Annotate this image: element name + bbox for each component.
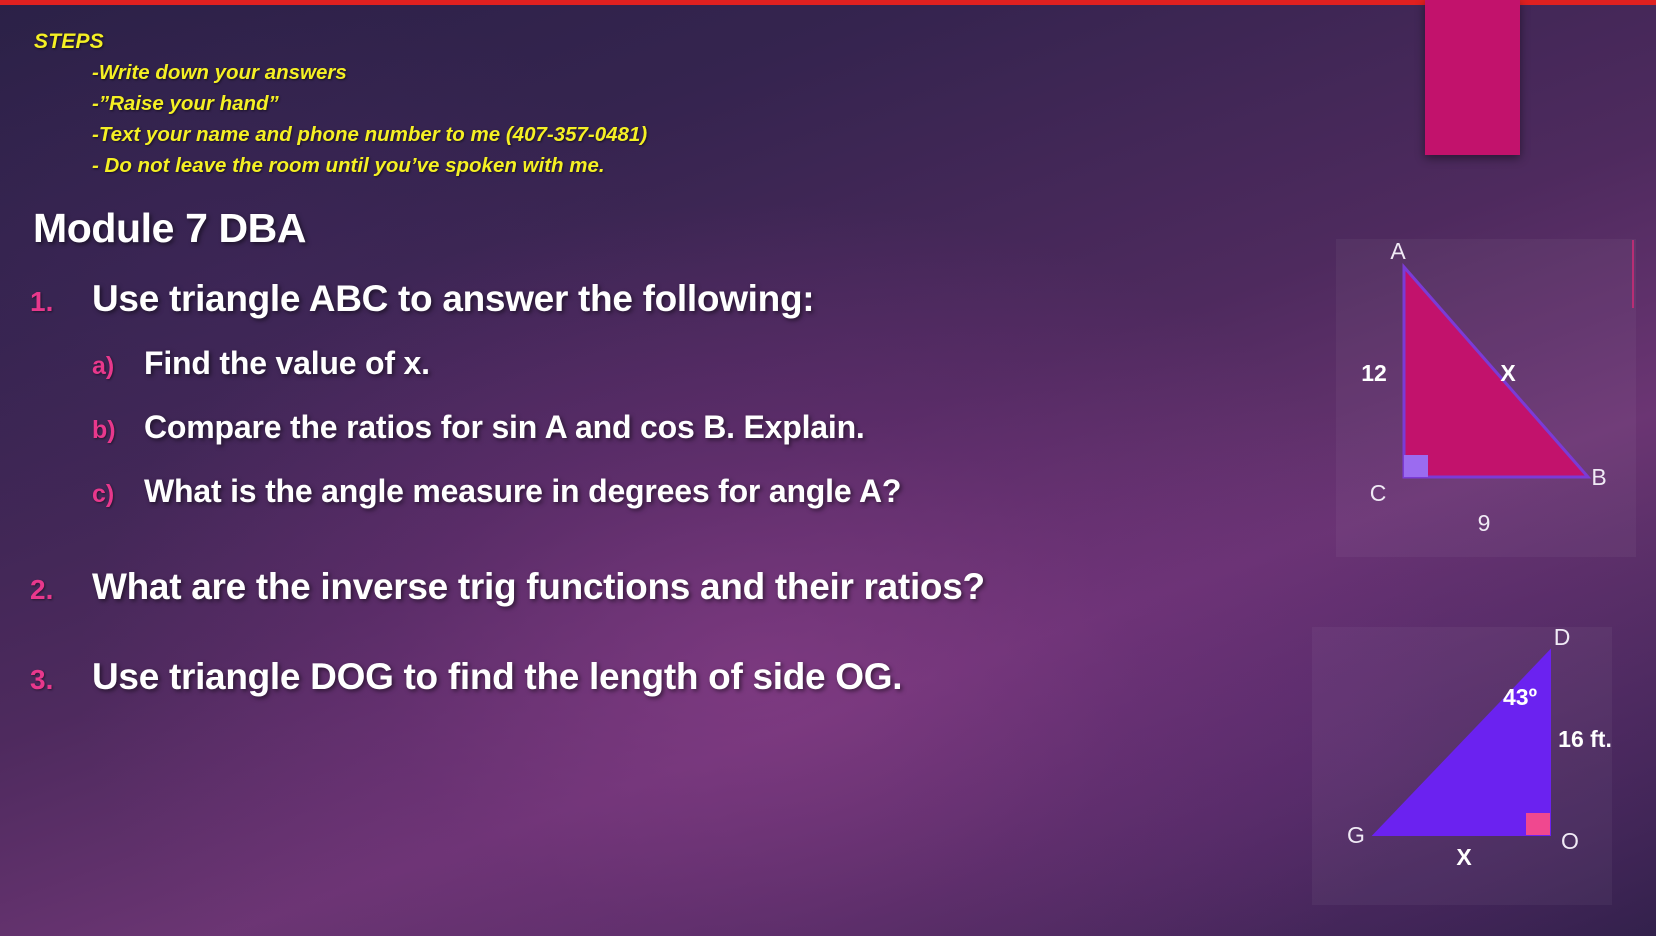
question-item-2: 2. What are the inverse trig functions a… [30,560,1250,614]
top-red-bar [0,0,1656,5]
sub-question-item-a: a) Find the value of x. [92,332,1250,394]
question-number: 3. [30,664,92,696]
right-angle-marker-icon [1526,813,1550,835]
question-item-1: 1. Use triangle ABC to answer the follow… [30,272,1250,326]
spacer [30,524,1250,560]
right-angle-marker-icon [1404,455,1428,477]
page-title: Module 7 DBA [33,205,306,252]
sub-question-text: Find the value of x. [144,332,430,394]
triangle-dog-shape [1374,651,1550,835]
slide-canvas: STEPS -Write down your answers -”Raise y… [0,0,1656,936]
question-text: What are the inverse trig functions and … [92,560,985,614]
side-label-12: 12 [1361,360,1387,386]
vertex-label-c: C [1370,480,1387,506]
side-label-x: X [1500,360,1516,386]
vertex-label-g: G [1347,822,1365,848]
figure-triangle-dog: D O G 43º 16 ft. X [1312,627,1612,905]
steps-item: -”Raise your hand” [92,88,934,119]
side-label-x: X [1456,844,1472,870]
question-number: 1. [30,286,92,318]
sub-question-label: c) [92,480,144,509]
angle-label-43-degrees: 43º [1503,684,1537,710]
steps-item: -Text your name and phone number to me (… [92,119,934,150]
sub-question-text: What is the angle measure in degrees for… [144,460,901,522]
side-label-9: 9 [1478,510,1491,536]
vertex-label-b: B [1591,464,1606,490]
question-text: Use triangle DOG to find the length of s… [92,650,902,704]
steps-list: -Write down your answers -”Raise your ha… [34,57,934,181]
spacer [30,620,1250,650]
question-number: 2. [30,574,92,606]
triangle-abc-shape [1404,267,1588,477]
steps-item: -Write down your answers [92,57,934,88]
accent-rectangle-decoration [1425,0,1520,155]
steps-heading: STEPS [34,30,934,54]
steps-block: STEPS -Write down your answers -”Raise y… [34,30,934,181]
sub-question-text: Compare the ratios for sin A and cos B. … [144,396,865,458]
vertex-label-o: O [1561,828,1579,854]
question-item-3: 3. Use triangle DOG to find the length o… [30,650,1250,704]
sub-question-item-b: b) Compare the ratios for sin A and cos … [92,396,1250,458]
steps-item: - Do not leave the room until you’ve spo… [92,150,934,181]
side-label-16-ft: 16 ft. [1558,726,1612,752]
sub-question-label: b) [92,416,144,445]
vertex-label-d: D [1554,624,1571,650]
question-text: Use triangle ABC to answer the following… [92,272,814,326]
vertex-label-a: A [1390,238,1406,264]
sub-question-item-c: c) What is the angle measure in degrees … [92,460,1250,522]
question-list: 1. Use triangle ABC to answer the follow… [30,272,1250,710]
figure-triangle-abc: A B C 12 X 9 [1336,239,1636,557]
sub-question-label: a) [92,352,144,381]
